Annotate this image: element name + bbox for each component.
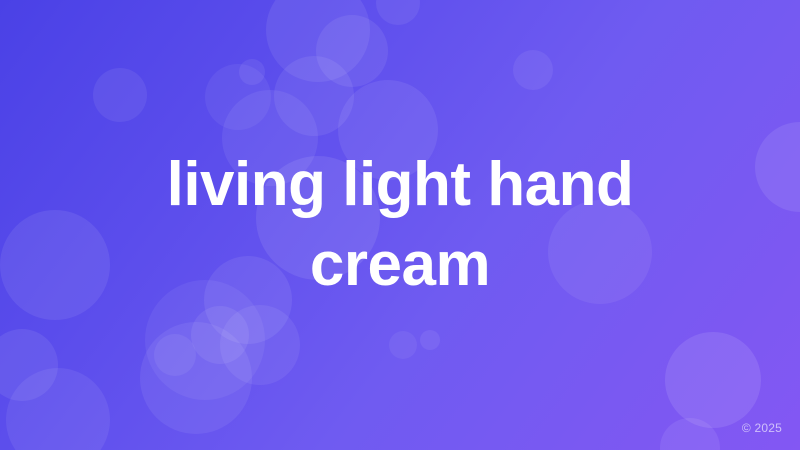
page-title: living light hand cream: [80, 145, 720, 305]
slide-content: living light hand cream: [0, 0, 800, 450]
hero-title-slide: living light hand cream © 2025: [0, 0, 800, 450]
copyright-notice: © 2025: [742, 420, 782, 436]
